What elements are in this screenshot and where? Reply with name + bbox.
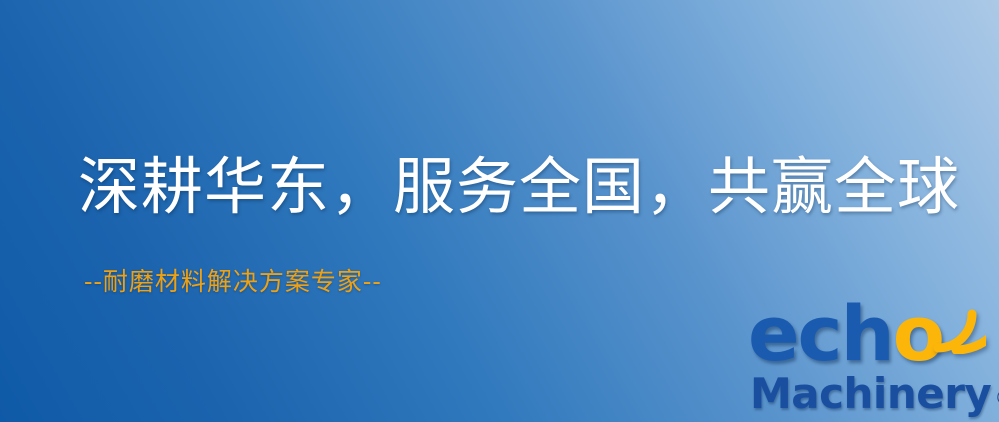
logo-wordmark: ech o [748,296,943,372]
registered-trademark-icon: ® [994,388,999,409]
promo-banner: 深耕华东，服务全国，共赢全球 --耐磨材料解决方案专家-- ech o Mach… [0,0,999,422]
banner-headline: 深耕华东，服务全国，共赢全球 [78,150,960,224]
signal-arcs-icon [916,292,986,354]
logo-word-ech: ech [748,296,893,372]
company-logo: ech o Machinery ® [748,296,999,422]
logo-tagline-row: Machinery ® [750,370,999,418]
banner-subtitle: --耐磨材料解决方案专家-- [84,266,382,298]
logo-tagline: Machinery [750,370,991,418]
